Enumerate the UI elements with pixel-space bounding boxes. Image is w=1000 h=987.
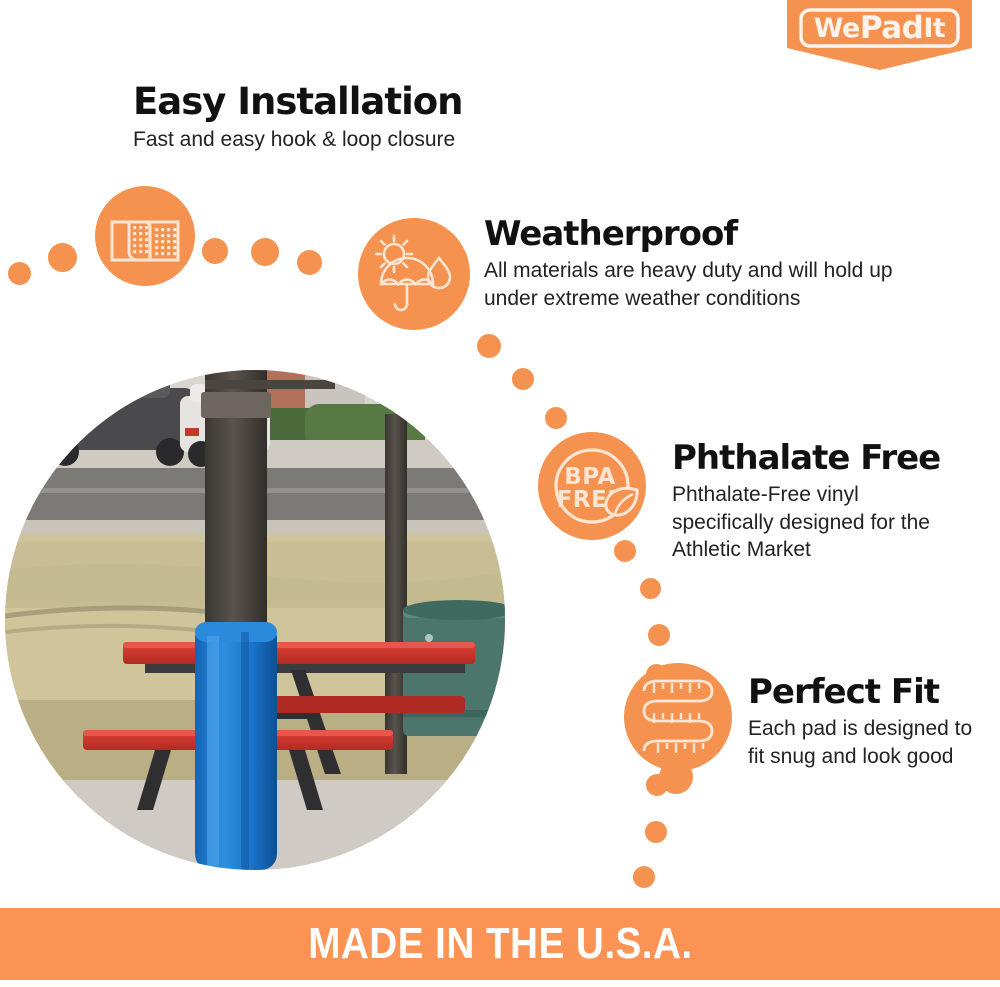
feature-title-weatherproof: Weatherproof: [484, 214, 737, 254]
trail-dot: [297, 250, 322, 275]
bpa-free-leaf-icon: BPA FREE: [540, 434, 644, 538]
trail-dot: [648, 624, 670, 646]
feature-description-easy-installation: Fast and easy hook & loop closure: [133, 126, 553, 154]
product-photo-illustration: [5, 370, 505, 870]
feature-description-perfect-fit: Each pad is designed to fit snug and loo…: [748, 715, 978, 770]
made-in-usa-banner: MADE IN THE U.S.A.: [0, 908, 1000, 980]
trail-dot: [477, 334, 501, 358]
infographic-canvas: WePadIt: [0, 0, 1000, 987]
product-photo: [5, 370, 505, 870]
icon-weatherproof: [358, 218, 470, 330]
trail-dot: [545, 407, 567, 429]
icon-phthalate-free: BPA FREE: [538, 432, 646, 540]
trail-dot: [202, 238, 228, 264]
trail-dot: [645, 821, 667, 843]
made-in-usa-text: MADE IN THE U.S.A.: [308, 919, 692, 969]
hook-and-loop-closure-icon: [109, 204, 181, 268]
trail-dot: [512, 368, 534, 390]
trail-dot: [633, 866, 655, 888]
umbrella-sun-raindrop-icon: [371, 234, 457, 314]
brand-logo[interactable]: WePadIt: [787, 0, 972, 70]
trail-dot: [251, 238, 279, 266]
icon-hook-and-loop-closure: [95, 186, 195, 286]
feature-title-easy-installation: Easy Installation: [133, 80, 463, 123]
feature-description-phthalate-free: Phthalate-Free vinyl specifically design…: [672, 481, 942, 564]
feature-title-phthalate-free: Phthalate Free: [672, 438, 940, 478]
trail-dot: [48, 243, 77, 272]
trail-dot: [8, 262, 31, 285]
feature-description-weatherproof: All materials are heavy duty and will ho…: [484, 257, 914, 312]
trail-dot: [614, 540, 636, 562]
feature-title-perfect-fit: Perfect Fit: [748, 672, 939, 712]
logo-shield-shape: [787, 0, 972, 70]
trail-dot: [640, 578, 661, 599]
perfect-fit-tail-dot: [659, 760, 693, 794]
measuring-tape-icon: [630, 671, 726, 763]
icon-perfect-fit: [624, 663, 732, 771]
